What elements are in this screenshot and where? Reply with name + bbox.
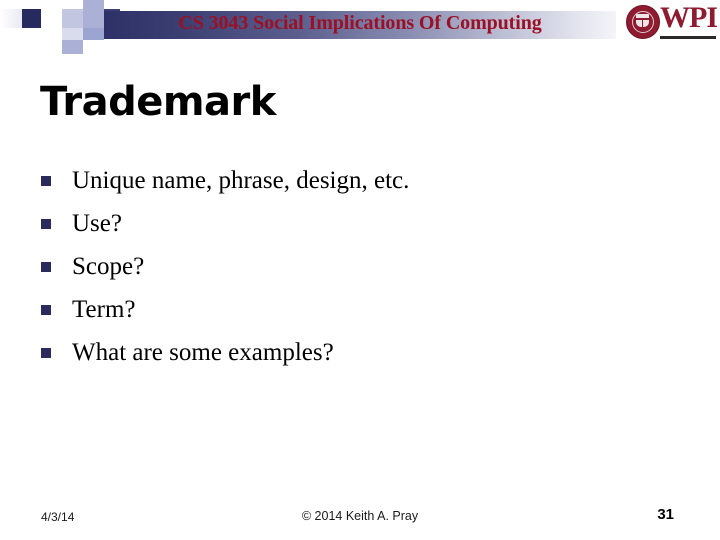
list-item: What are some examples? [41,335,661,370]
list-item-label: Unique name, phrase, design, etc. [72,167,409,194]
header-decor-square-mid [83,0,104,28]
bullet-square-icon [41,176,51,186]
slide-header: CS 3043 Social Implications Of Computing… [0,0,720,58]
header-decor-square-dark [22,9,41,28]
header-decor-square-pale [62,9,83,28]
slide-canvas: CS 3043 Social Implications Of Computing… [0,0,720,540]
list-item: Scope? [41,249,661,284]
list-item: Term? [41,292,661,327]
footer-page-number: 31 [657,506,674,523]
slide-footer: 4/3/14 © 2014 Keith A. Pray 31 [0,505,720,531]
bullet-list: Unique name, phrase, design, etc. Use? S… [41,163,661,378]
course-title: CS 3043 Social Implications Of Computing [104,12,616,35]
wpi-wordmark: WPI [660,1,717,35]
header-title-bar: CS 3043 Social Implications Of Computing [104,11,616,39]
list-item-label: Use? [72,210,122,237]
bullet-square-icon [41,305,51,315]
footer-copyright: © 2014 Keith A. Pray [0,509,720,523]
bullet-square-icon [41,219,51,229]
list-item-label: Scope? [72,253,144,280]
wpi-underline-rule [660,36,716,39]
wpi-seal-icon [626,5,660,39]
bullet-square-icon [41,262,51,272]
wpi-shield-icon [636,14,649,27]
list-item-label: What are some examples? [72,339,334,366]
header-decor-gradient-square [0,9,22,28]
page-title: Trademark [40,79,276,125]
header-decor-square-light [62,28,83,40]
list-item: Unique name, phrase, design, etc. [41,163,661,198]
header-decor-square-medium [83,28,104,40]
bullet-square-icon [41,348,51,358]
list-item: Use? [41,206,661,241]
header-decor-square-lower [62,40,83,54]
list-item-label: Term? [72,296,136,323]
wpi-logo: WPI [622,2,718,44]
